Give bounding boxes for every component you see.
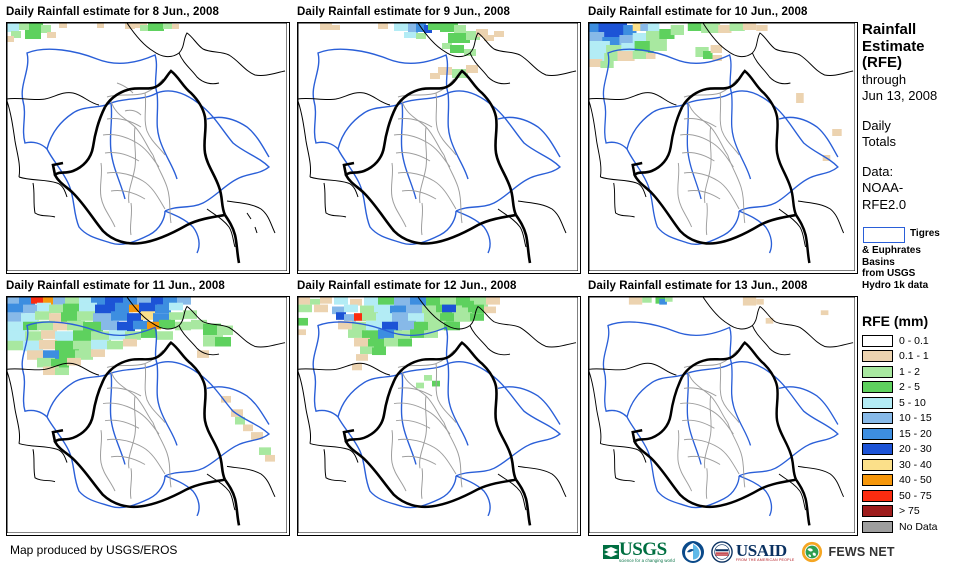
legend-item: 5 - 10 — [862, 395, 967, 411]
map-panel-3-title: Daily Rainfall estimate for 10 Jun., 200… — [588, 4, 858, 20]
legend-item-label: 50 - 75 — [899, 490, 932, 502]
rfe-legend-list: 0 - 0.1 0.1 - 1 1 - 2 2 - 5 5 - 10 10 - … — [862, 333, 967, 535]
legend-item-label: 0.1 - 1 — [899, 350, 929, 362]
legend-item-label: No Data — [899, 521, 938, 533]
legend-color-swatch — [862, 428, 893, 440]
map-panel-1[interactable]: Daily Rainfall estimate for 8 Jun., 2008 — [6, 4, 290, 274]
map-panel-6-frame[interactable] — [588, 296, 858, 536]
legend-item-label: 0 - 0.1 — [899, 335, 929, 347]
map-6-svg — [589, 297, 855, 533]
legend-item-label: 10 - 15 — [899, 412, 932, 424]
map-3-svg — [589, 23, 855, 271]
usaid-tagline: FROM THE AMERICAN PEOPLE — [736, 559, 795, 563]
legend-color-swatch — [862, 505, 893, 517]
legend-item: 20 - 30 — [862, 442, 967, 458]
legend-item-label: 5 - 10 — [899, 397, 926, 409]
map-panel-6-title: Daily Rainfall estimate for 13 Jun., 200… — [588, 278, 858, 294]
fews-net-globe-icon — [801, 541, 823, 563]
map-panel-5[interactable]: Daily Rainfall estimate for 12 Jun., 200… — [297, 278, 581, 536]
legend-item-label: 1 - 2 — [899, 366, 920, 378]
map-panel-4[interactable]: Daily Rainfall estimate for 11 Jun., 200… — [6, 278, 290, 536]
sidebar-data-line3: RFE2.0 — [862, 197, 967, 214]
legend-item: 15 - 20 — [862, 426, 967, 442]
map-panel-5-frame[interactable] — [297, 296, 581, 536]
basin-legend-key: Tigres & Euphrates Basins from USGS Hydr… — [862, 227, 967, 291]
legend-item: 30 - 40 — [862, 457, 967, 473]
map-5-svg — [298, 297, 578, 533]
legend-item-label: 30 - 40 — [899, 459, 932, 471]
legend-item-label: > 75 — [899, 505, 920, 517]
map-panel-2[interactable]: Daily Rainfall estimate for 9 Jun., 2008 — [297, 4, 581, 274]
legend-item: 0.1 - 1 — [862, 349, 967, 365]
legend-sidebar: Rainfall Estimate (RFE) through Jun 13, … — [862, 0, 967, 576]
sidebar-totals-line1: Daily — [862, 118, 967, 135]
agency-logos: USGS science for a changing world USAID … — [603, 540, 895, 564]
map-panel-1-frame[interactable] — [6, 22, 290, 274]
sidebar-through-date: Jun 13, 2008 — [862, 88, 967, 105]
basin-label-first: Tigres — [910, 228, 940, 239]
legend-item: 1 - 2 — [862, 364, 967, 380]
map-panel-grid: Daily Rainfall estimate for 8 Jun., 2008 — [0, 0, 858, 534]
legend-item-label: 20 - 30 — [899, 443, 932, 455]
sidebar-title-line1: Rainfall — [862, 22, 967, 39]
sidebar-title-line2: Estimate — [862, 39, 967, 56]
map-panel-2-title: Daily Rainfall estimate for 9 Jun., 2008 — [297, 4, 581, 20]
map-2-svg — [298, 23, 578, 271]
legend-color-swatch — [862, 366, 893, 378]
legend-color-swatch — [862, 490, 893, 502]
map-1-svg — [7, 23, 287, 271]
map-credit: Map produced by USGS/EROS — [10, 543, 177, 557]
legend-color-swatch — [862, 381, 893, 393]
legend-item: No Data — [862, 519, 967, 535]
basin-label-rest: & Euphrates Basins from USGS Hydro 1k da… — [862, 245, 928, 291]
map-panel-4-title: Daily Rainfall estimate for 11 Jun., 200… — [6, 278, 290, 294]
legend-item: 0 - 0.1 — [862, 333, 967, 349]
map-panel-1-title: Daily Rainfall estimate for 8 Jun., 2008 — [6, 4, 290, 20]
sidebar-title-line3: (RFE) — [862, 55, 967, 72]
map-panel-3[interactable]: Daily Rainfall estimate for 10 Jun., 200… — [588, 4, 858, 274]
sidebar-data-line2: NOAA- — [862, 180, 967, 197]
legend-item-label: 2 - 5 — [899, 381, 920, 393]
legend-color-swatch — [862, 350, 893, 362]
legend-color-swatch — [862, 474, 893, 486]
noaa-logo-icon — [681, 540, 705, 564]
rfe-legend-title: RFE (mm) — [862, 313, 967, 329]
legend-item: > 75 — [862, 504, 967, 520]
usgs-tagline: science for a changing world — [619, 559, 675, 563]
usaid-wordmark: USAID — [736, 542, 795, 559]
legend-item: 2 - 5 — [862, 380, 967, 396]
usgs-wordmark: USGS — [619, 540, 675, 559]
legend-color-swatch — [862, 459, 893, 471]
map-panel-5-title: Daily Rainfall estimate for 12 Jun., 200… — [297, 278, 581, 294]
map-panel-4-frame[interactable] — [6, 296, 290, 536]
legend-item: 10 - 15 — [862, 411, 967, 427]
sidebar-totals-line2: Totals — [862, 134, 967, 151]
legend-color-swatch — [862, 397, 893, 409]
legend-color-swatch — [862, 443, 893, 455]
usgs-mark-icon — [603, 542, 619, 562]
legend-color-swatch — [862, 335, 893, 347]
legend-item: 50 - 75 — [862, 488, 967, 504]
sidebar-data-line1: Data: — [862, 164, 967, 181]
map-4-svg — [7, 297, 287, 533]
legend-item: 40 - 50 — [862, 473, 967, 489]
legend-color-swatch — [862, 521, 893, 533]
map-panel-3-frame[interactable] — [588, 22, 858, 274]
fews-net-wordmark: FEWS NET — [829, 545, 895, 559]
usaid-seal-icon — [711, 541, 733, 563]
usgs-logo: USGS science for a changing world — [603, 540, 675, 563]
legend-item-label: 40 - 50 — [899, 474, 932, 486]
legend-color-swatch — [862, 412, 893, 424]
basin-swatch-icon — [863, 227, 905, 243]
legend-item-label: 15 - 20 — [899, 428, 932, 440]
map-panel-6[interactable]: Daily Rainfall estimate for 13 Jun., 200… — [588, 278, 858, 536]
map-panel-2-frame[interactable] — [297, 22, 581, 274]
sidebar-through-label: through — [862, 72, 967, 89]
